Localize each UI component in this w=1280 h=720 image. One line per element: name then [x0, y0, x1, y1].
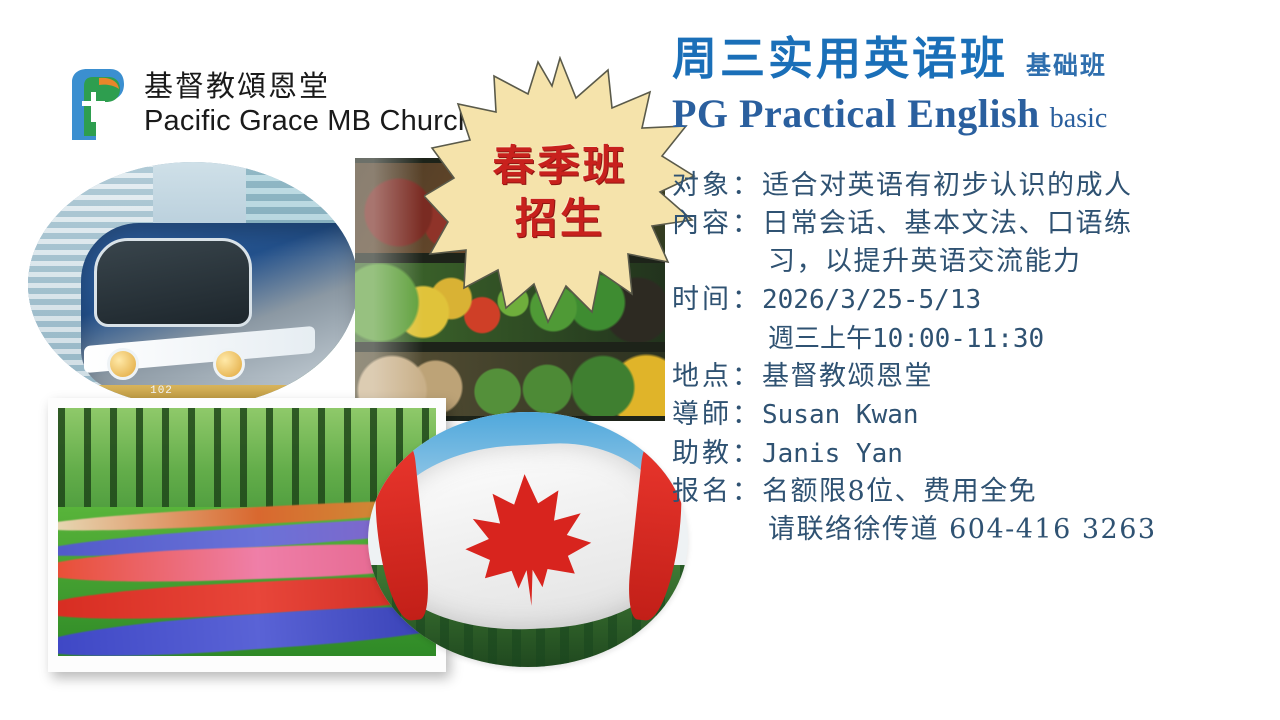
- detail-label: 报名：: [672, 476, 762, 507]
- detail-label: 时间：: [672, 284, 762, 315]
- train-photo: 102: [28, 162, 358, 407]
- church-pg-logo-icon: [66, 66, 128, 142]
- title-main-en: PG Practical English: [672, 90, 1040, 137]
- detail-label: 对象：: [672, 170, 762, 201]
- title-sub-cn: 基础班: [1026, 46, 1107, 82]
- detail-value: 日常会话、基本文法、口语练: [762, 208, 1133, 239]
- detail-row: 週三上午10:00-11:30: [672, 320, 1272, 358]
- title-main-cn: 周三实用英语班: [672, 34, 1008, 84]
- train-photo-windshield: [94, 238, 252, 327]
- course-details-list: 对象：适合对英语有初步认识的成人內容：日常会话、基本文法、口语练习，以提升英语交…: [672, 167, 1272, 550]
- detail-row: 对象：适合对英语有初步认识的成人: [672, 167, 1272, 205]
- train-photo-headlight-right: [213, 348, 245, 380]
- page-title-en: PG Practical English basic: [672, 90, 1272, 137]
- canada-flag-photo: [368, 412, 688, 667]
- detail-row: 導師：Susan Kwan: [672, 396, 1272, 434]
- maple-leaf-icon: [449, 461, 607, 619]
- train-photo-car-number: 102: [150, 385, 173, 397]
- detail-value: 週三上午10:00-11:30: [768, 324, 1044, 354]
- poster-canvas: 基督教頌恩堂 Pacific Grace MB Church 102: [0, 0, 1280, 720]
- detail-row: 地点：基督教颂恩堂: [672, 358, 1272, 396]
- detail-row: 习，以提升英语交流能力: [672, 243, 1272, 281]
- detail-row: 报名：名额限8位、费用全免: [672, 473, 1272, 511]
- detail-row: 助教：Janis Yan: [672, 435, 1272, 473]
- starburst-shape: [424, 58, 694, 322]
- detail-label: 內容：: [672, 208, 762, 239]
- detail-value: Janis Yan: [762, 439, 903, 469]
- detail-label: 導師：: [672, 399, 762, 430]
- detail-row: 时间：2026/3/25-5/13: [672, 281, 1272, 319]
- page-title-cn: 周三实用英语班 基础班: [672, 34, 1272, 84]
- church-logo-block: 基督教頌恩堂 Pacific Grace MB Church: [66, 66, 474, 142]
- detail-value: 适合对英语有初步认识的成人: [762, 170, 1133, 201]
- detail-value: 名额限8位、费用全免: [762, 476, 1037, 507]
- detail-value: Susan Kwan: [762, 400, 919, 430]
- enrollment-starburst-badge: 春季班 招生: [424, 56, 696, 328]
- detail-value: 请联络徐传道 604-416 3263: [768, 514, 1157, 545]
- detail-row: 请联络徐传道 604-416 3263: [672, 511, 1272, 549]
- train-photo-headlight-left: [107, 348, 139, 380]
- detail-label: 地点：: [672, 361, 762, 392]
- detail-value: 习，以提升英语交流能力: [768, 246, 1082, 277]
- detail-row: 內容：日常会话、基本文法、口语练: [672, 205, 1272, 243]
- title-sub-en: basic: [1050, 103, 1108, 135]
- content-column: 周三实用英语班 基础班 PG Practical English basic 对…: [672, 34, 1272, 550]
- detail-value: 2026/3/25-5/13: [762, 285, 981, 315]
- detail-label: 助教：: [672, 438, 762, 469]
- detail-value: 基督教颂恩堂: [762, 361, 933, 392]
